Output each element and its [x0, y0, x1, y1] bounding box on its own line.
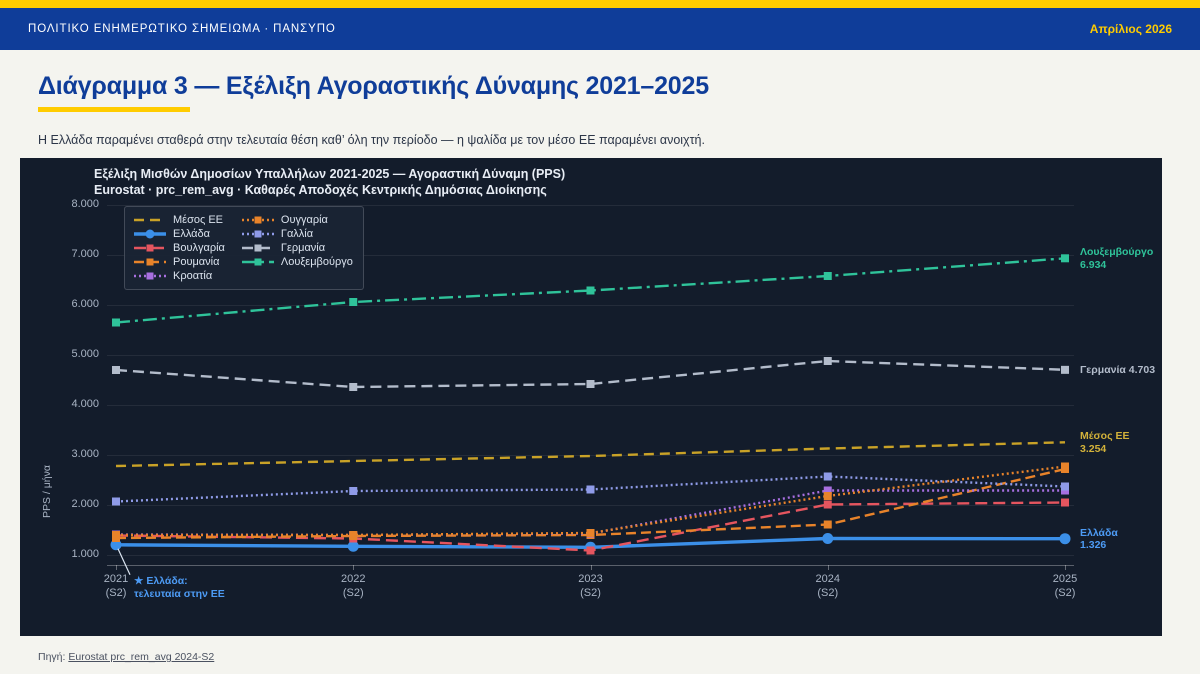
series-marker	[1061, 463, 1069, 471]
slide-root: ΠΟΛΙΤΙΚΟ ΕΝΗΜΕΡΩΤΙΚΟ ΣΗΜΕΙΩΜΑ · ΠΑΝΣΥΠΟ …	[0, 0, 1200, 674]
legend-item[interactable]: Ουγγαρία	[241, 214, 353, 226]
end-label-name: Ελλάδα	[1080, 527, 1118, 539]
legend-item[interactable]: Γαλλία	[241, 228, 353, 240]
chart-legend: Μέσος ΕΕΟυγγαρίαΕλλάδαΓαλλίαΒουλγαρίαΓερ…	[124, 206, 364, 290]
greece-annotation: ★ Ελλάδα: τελευταία στην ΕΕ	[134, 575, 225, 601]
series-end-label: Λουξεμβούργο6.934	[1080, 246, 1153, 271]
legend-swatch-icon	[241, 256, 275, 268]
series-end-label: Μέσος ΕΕ3.254	[1080, 430, 1129, 455]
series-marker	[349, 487, 357, 495]
series-marker	[349, 383, 357, 391]
end-label-value: 6.934	[1080, 259, 1106, 271]
series-marker	[112, 498, 120, 506]
legend-item-label: Βουλγαρία	[173, 242, 225, 254]
series-marker	[1061, 366, 1069, 374]
header-kicker: ΠΟΛΙΤΙΚΟ ΕΝΗΜΕΡΩΤΙΚΟ ΣΗΜΕΙΩΜΑ · ΠΑΝΣΥΠΟ	[28, 23, 336, 35]
legend-item-label: Γαλλία	[281, 228, 313, 240]
end-label-value: 3.254	[1080, 443, 1106, 455]
title-block: Διάγραμμα 3 — Εξέλιξη Αγοραστικής Δύναμη…	[38, 72, 1138, 112]
series-line	[116, 491, 1065, 536]
series-marker	[349, 531, 357, 539]
legend-item[interactable]: Βουλγαρία	[133, 242, 225, 254]
title-underline	[38, 107, 190, 112]
series-marker	[587, 380, 595, 388]
end-label-name: Μέσος ΕΕ	[1080, 430, 1129, 442]
series-marker	[112, 531, 120, 539]
series-line	[116, 467, 1065, 536]
header-bar: ΠΟΛΙΤΙΚΟ ΕΝΗΜΕΡΩΤΙΚΟ ΣΗΜΕΙΩΜΑ · ΠΑΝΣΥΠΟ …	[0, 8, 1200, 50]
legend-swatch-icon	[133, 256, 167, 268]
end-label-name: Γερμανία 4.703	[1080, 364, 1155, 376]
legend-swatch-icon	[133, 270, 167, 282]
legend-item-label: Λουξεμβούργο	[281, 256, 353, 268]
top-accent-strip	[0, 0, 1200, 8]
series-marker	[1061, 483, 1069, 491]
series-marker	[112, 319, 120, 327]
legend-swatch-icon	[133, 242, 167, 254]
legend-swatch-icon	[133, 214, 167, 226]
annotation-leader-line	[118, 549, 130, 575]
legend-swatch-icon	[241, 242, 275, 254]
series-marker	[112, 366, 120, 374]
series-marker	[824, 521, 832, 529]
source-note: Πηγή: Eurostat prc_rem_avg 2024-S2	[38, 651, 214, 663]
legend-item[interactable]: Ρουμανία	[133, 256, 225, 268]
series-marker	[824, 501, 832, 509]
series-marker	[587, 529, 595, 537]
series-end-label: Γερμανία 4.703	[1080, 364, 1155, 377]
series-marker	[587, 287, 595, 295]
series-marker	[822, 533, 833, 544]
end-label-value: 1.326	[1080, 539, 1106, 551]
legend-item[interactable]: Μέσος ΕΕ	[133, 214, 225, 226]
legend-swatch-icon	[241, 214, 275, 226]
source-link[interactable]: Eurostat prc_rem_avg 2024-S2	[68, 651, 214, 663]
legend-item-label: Κροατία	[173, 270, 212, 282]
series-marker	[1061, 254, 1069, 262]
legend-item[interactable]: Γερμανία	[241, 242, 353, 254]
legend-item-label: Ουγγαρία	[281, 214, 328, 226]
legend-item[interactable]: Λουξεμβούργο	[241, 256, 353, 268]
series-marker	[587, 547, 595, 555]
series-marker	[824, 357, 832, 365]
legend-item-label: Ελλάδα	[173, 228, 210, 240]
annotation-line-2: τελευταία στην ΕΕ	[134, 588, 225, 601]
header-date: Απρίλιος 2026	[1090, 22, 1172, 36]
legend-item-label: Ρουμανία	[173, 256, 219, 268]
legend-item[interactable]: Ελλάδα	[133, 228, 225, 240]
legend-swatch-icon	[241, 228, 275, 240]
chart-panel: Εξέλιξη Μισθών Δημοσίων Υπαλλήλων 2021-2…	[20, 158, 1162, 636]
end-label-name: Λουξεμβούργο	[1080, 246, 1153, 258]
legend-item-label: Μέσος ΕΕ	[173, 214, 223, 226]
annotation-line-1: ★ Ελλάδα:	[134, 575, 225, 588]
series-marker	[349, 298, 357, 306]
series-marker	[1061, 499, 1069, 507]
legend-item-label: Γερμανία	[281, 242, 325, 254]
series-marker	[824, 473, 832, 481]
legend-swatch-icon	[133, 228, 167, 240]
page-subtitle: Η Ελλάδα παραμένει σταθερά στην τελευταί…	[38, 133, 705, 147]
series-marker	[587, 486, 595, 494]
series-marker	[1060, 533, 1071, 544]
series-marker	[824, 272, 832, 280]
page-title: Διάγραμμα 3 — Εξέλιξη Αγοραστικής Δύναμη…	[38, 72, 1138, 101]
legend-item[interactable]: Κροατία	[133, 270, 225, 282]
series-marker	[824, 492, 832, 500]
series-end-label: Ελλάδα1.326	[1080, 527, 1118, 552]
series-line	[116, 442, 1065, 466]
source-prefix: Πηγή:	[38, 651, 68, 663]
